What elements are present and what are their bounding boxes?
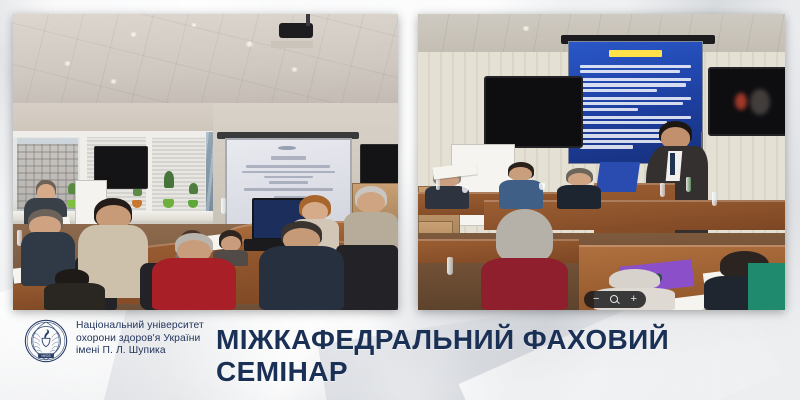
ceiling-light (244, 41, 255, 47)
participant (557, 168, 601, 209)
window-frame (13, 131, 213, 138)
wall-tv-right (708, 67, 785, 136)
magnifier-icon[interactable] (610, 295, 619, 304)
drinking-cup (462, 186, 468, 193)
zoom-control-bar[interactable]: − + (584, 291, 646, 308)
participant-foreground (44, 269, 106, 310)
logo-block: НУОЗ Національний університет охорони зд… (24, 319, 204, 363)
ceiling-light (190, 23, 198, 27)
projector-mount (306, 14, 310, 26)
water-bottle (447, 257, 453, 275)
slide-bullet (580, 83, 686, 86)
office-chair (336, 245, 398, 310)
plant-leaves (189, 183, 198, 194)
necktie (670, 153, 674, 175)
slide-text-line (246, 165, 330, 168)
wall-tv-left (484, 76, 583, 148)
photo-presentation (418, 14, 785, 310)
slide-bullet (580, 65, 691, 68)
participant (344, 186, 398, 251)
photo-conference-room (13, 14, 398, 310)
plant-leaves (164, 171, 174, 188)
seminar-title: МІЖКАФЕДРАЛЬНИЙ ФАХОВИЙ СЕМІНАР (216, 324, 786, 388)
ceiling-light (129, 32, 138, 37)
participant-foreground (477, 209, 572, 310)
water-bottle (660, 183, 665, 197)
slide-text-line (244, 188, 333, 191)
window-blind (152, 138, 206, 209)
tv-image-glow (735, 93, 747, 110)
slide-text-line (269, 181, 308, 184)
plant-pot (163, 199, 174, 208)
drinking-cup (539, 183, 545, 190)
participant (499, 162, 543, 209)
university-emblem-icon: НУОЗ (24, 319, 68, 363)
slide-bullet (580, 108, 638, 111)
laptop-screen (596, 162, 641, 192)
water-bottle (221, 198, 226, 214)
participant-foreground (152, 233, 237, 310)
svg-text:НУОЗ: НУОЗ (42, 354, 51, 358)
slide-bullet (580, 102, 683, 105)
slide-bullet (580, 70, 680, 73)
slide-bullet (580, 116, 691, 119)
poster-canvas: − + (0, 0, 800, 400)
slide-text-line (264, 176, 313, 179)
zoom-out-button[interactable]: − (593, 294, 599, 305)
slide-bullet (580, 89, 657, 92)
tv-image-glow (750, 89, 770, 115)
university-name: Національний університет охорони здоров'… (76, 319, 204, 358)
participant-foreground (259, 221, 344, 310)
slide-logo (278, 146, 295, 150)
slide-bullet (580, 145, 633, 148)
ceiling-light (521, 26, 531, 31)
water-bottle (686, 177, 691, 192)
water-bottle (712, 192, 717, 206)
slide-bullet (580, 78, 691, 81)
projector-plate (271, 41, 313, 48)
ceiling (13, 14, 398, 106)
slide-title-line (271, 156, 305, 160)
slide-title (609, 50, 662, 57)
footer-band: НУОЗ Національний університет охорони зд… (0, 310, 800, 400)
zoom-in-button[interactable]: + (630, 294, 636, 305)
slide-text-line (242, 171, 336, 174)
chair-fabric (748, 263, 785, 310)
slide-bullet (580, 97, 691, 100)
